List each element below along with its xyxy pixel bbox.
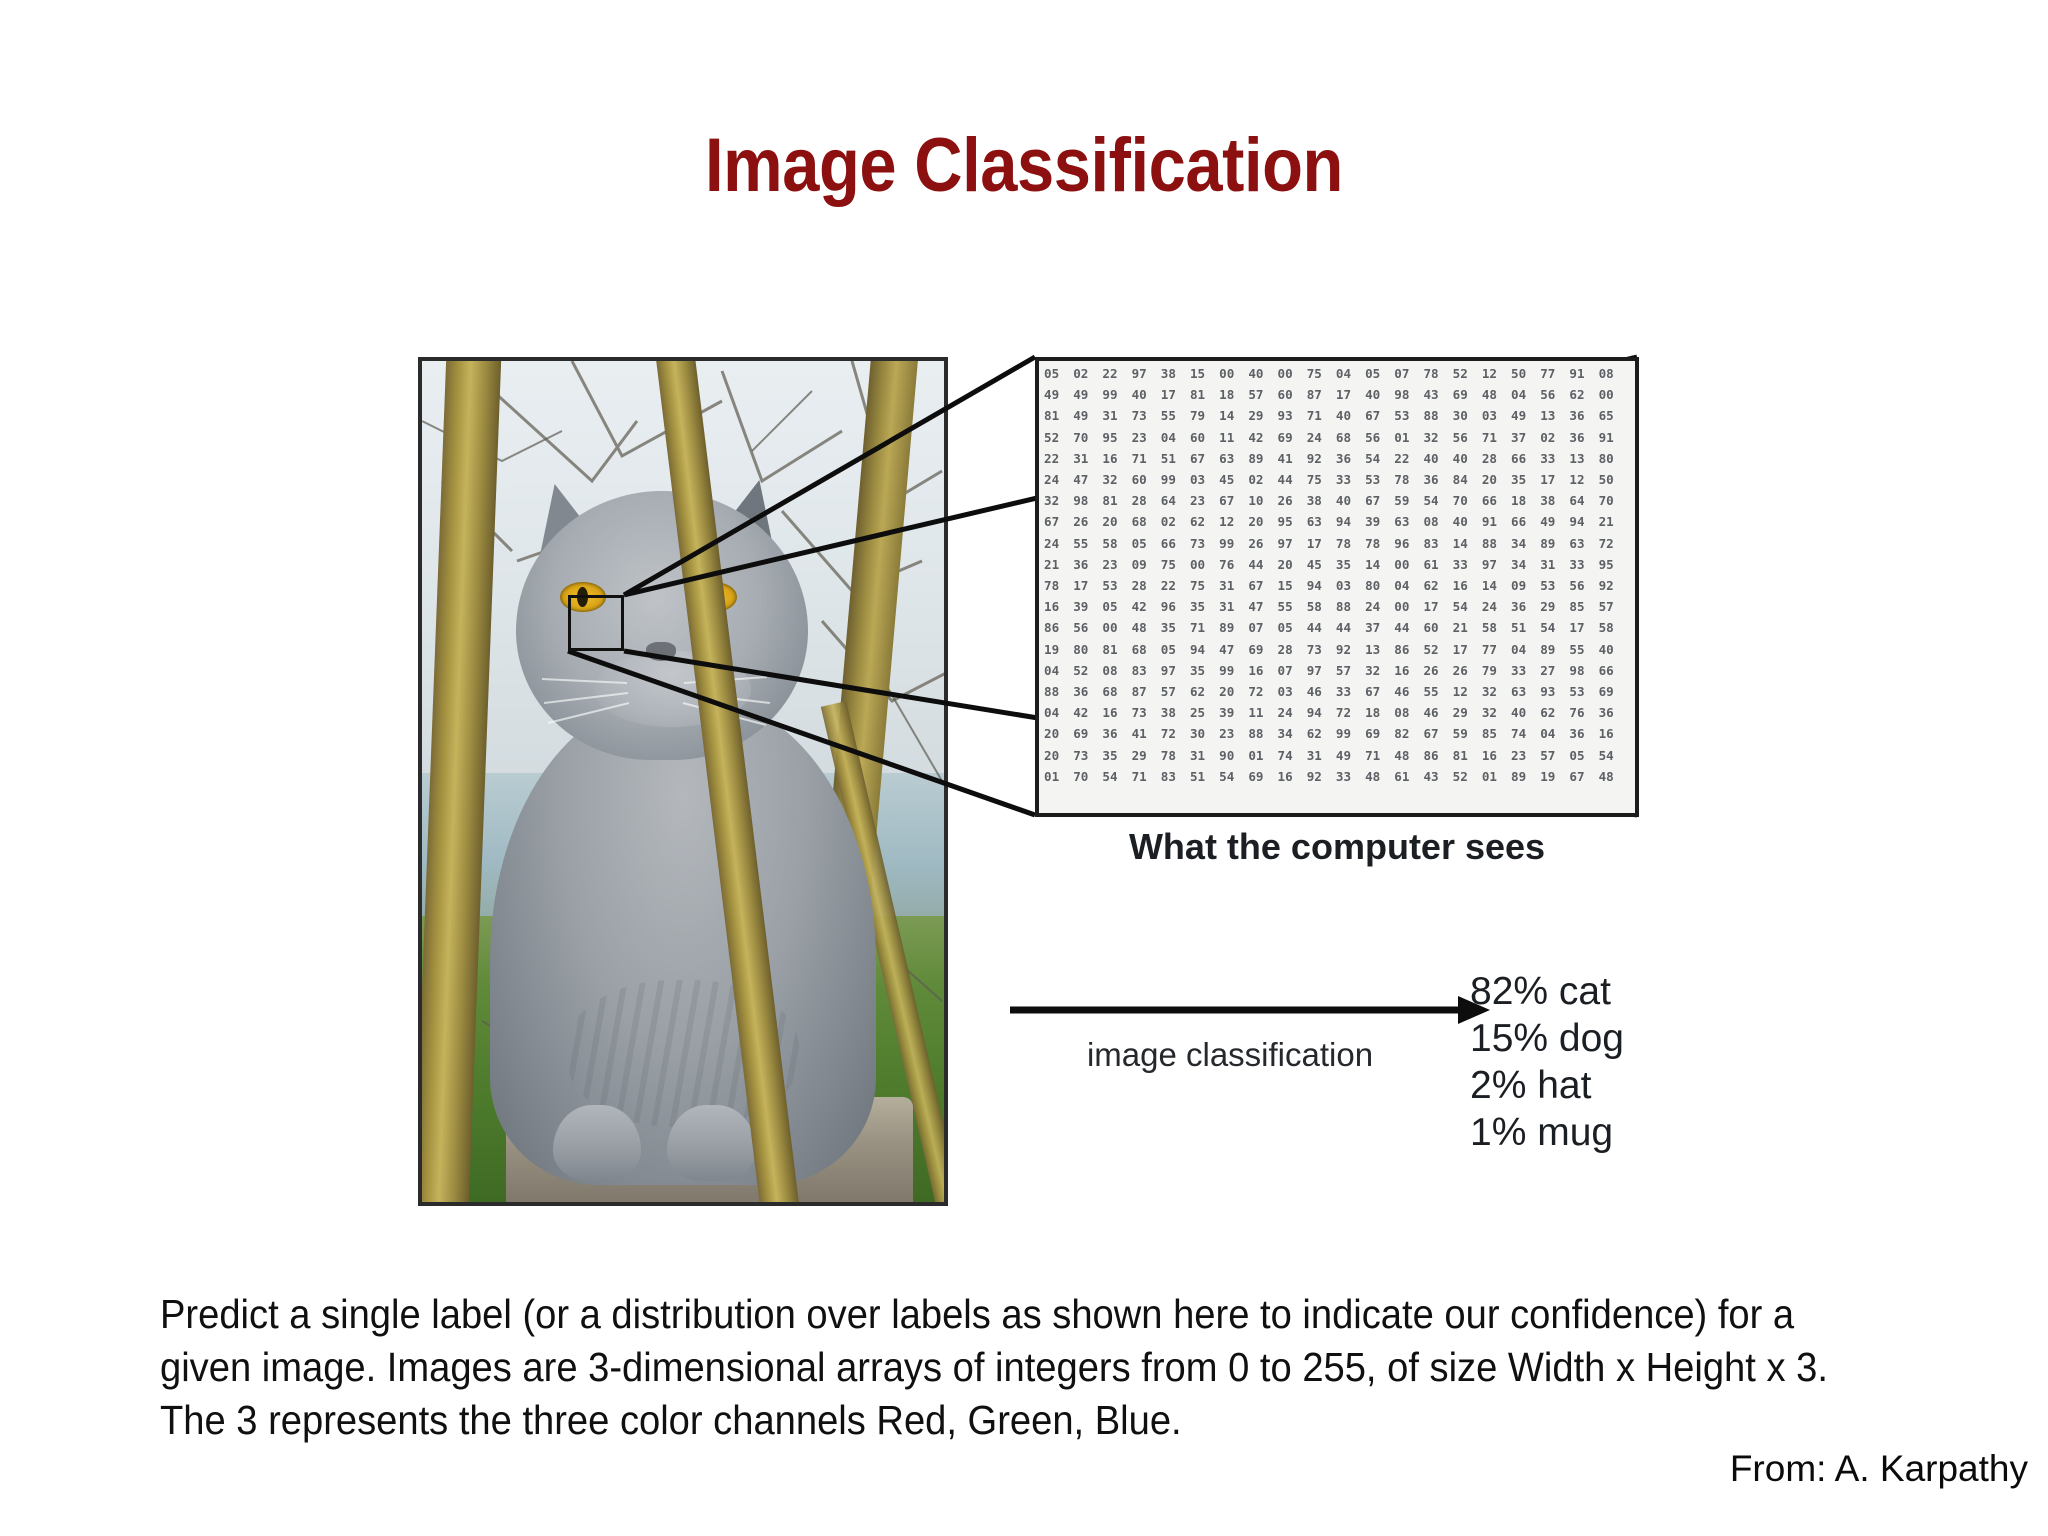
matrix-cell: 36 (1569, 427, 1598, 448)
classification-arrow-label: image classification (1030, 1036, 1430, 1074)
matrix-cell: 52 (1073, 660, 1102, 681)
matrix-cell: 89 (1540, 533, 1569, 554)
matrix-cell: 89 (1511, 766, 1540, 787)
matrix-cell: 67 (1248, 575, 1277, 596)
matrix-cell: 16 (1278, 766, 1307, 787)
matrix-cell: 37 (1365, 617, 1394, 638)
matrix-cell: 81 (1044, 405, 1073, 426)
matrix-cell: 48 (1132, 617, 1161, 638)
classification-arrow (1010, 990, 1490, 1030)
matrix-cell: 80 (1365, 575, 1394, 596)
matrix-cell: 72 (1599, 533, 1628, 554)
matrix-cell: 40 (1248, 363, 1277, 384)
matrix-cell: 14 (1365, 554, 1394, 575)
matrix-cell: 48 (1394, 745, 1423, 766)
matrix-cell: 89 (1219, 617, 1248, 638)
matrix-cell: 24 (1307, 427, 1336, 448)
matrix-cell: 97 (1307, 660, 1336, 681)
matrix-cell: 67 (1365, 681, 1394, 702)
matrix-cell: 26 (1278, 490, 1307, 511)
matrix-cell: 63 (1394, 511, 1423, 532)
matrix-cell: 22 (1394, 448, 1423, 469)
matrix-cell: 24 (1278, 702, 1307, 723)
matrix-cell: 07 (1248, 617, 1277, 638)
matrix-cell: 64 (1161, 490, 1190, 511)
matrix-cell: 95 (1278, 511, 1307, 532)
matrix-cell: 69 (1278, 427, 1307, 448)
matrix-cell: 08 (1394, 702, 1423, 723)
matrix-cell: 13 (1365, 639, 1394, 660)
matrix-cell: 71 (1132, 766, 1161, 787)
matrix-cell: 93 (1278, 405, 1307, 426)
matrix-cell: 16 (1044, 596, 1073, 617)
matrix-cell: 16 (1102, 702, 1131, 723)
matrix-cell: 69 (1365, 723, 1394, 744)
matrix-cell: 34 (1511, 554, 1540, 575)
matrix-cell: 54 (1219, 766, 1248, 787)
matrix-cell: 59 (1394, 490, 1423, 511)
matrix-cell: 66 (1482, 490, 1511, 511)
matrix-cell: 20 (1044, 723, 1073, 744)
matrix-cell: 16 (1248, 660, 1277, 681)
matrix-cell: 32 (1044, 490, 1073, 511)
matrix-cell: 46 (1307, 681, 1336, 702)
matrix-cell: 18 (1511, 490, 1540, 511)
matrix-cell: 92 (1336, 639, 1365, 660)
matrix-cell: 42 (1132, 596, 1161, 617)
matrix-cell: 36 (1423, 469, 1452, 490)
matrix-cell: 55 (1278, 596, 1307, 617)
matrix-row: 8836688757622072034633674655123263935369 (1044, 681, 1632, 702)
matrix-cell: 28 (1132, 490, 1161, 511)
matrix-cell: 21 (1453, 617, 1482, 638)
matrix-cell: 16 (1482, 745, 1511, 766)
matrix-cell: 92 (1599, 575, 1628, 596)
matrix-cell: 47 (1219, 639, 1248, 660)
matrix-cell: 42 (1073, 702, 1102, 723)
matrix-cell: 69 (1599, 681, 1628, 702)
matrix-cell: 31 (1102, 405, 1131, 426)
matrix-cell: 10 (1248, 490, 1277, 511)
matrix-cell: 78 (1161, 745, 1190, 766)
matrix-cell: 19 (1044, 639, 1073, 660)
matrix-cell: 86 (1044, 617, 1073, 638)
matrix-cell: 05 (1102, 596, 1131, 617)
matrix-cell: 12 (1569, 469, 1598, 490)
matrix-cell: 12 (1453, 681, 1482, 702)
matrix-cell: 66 (1161, 533, 1190, 554)
matrix-cell: 99 (1336, 723, 1365, 744)
matrix-cell: 98 (1073, 490, 1102, 511)
matrix-cell: 17 (1161, 384, 1190, 405)
matrix-cell: 49 (1540, 511, 1569, 532)
matrix-cell: 03 (1482, 405, 1511, 426)
matrix-cell: 20 (1278, 554, 1307, 575)
matrix-cell: 49 (1044, 384, 1073, 405)
matrix-cell: 70 (1599, 490, 1628, 511)
matrix-cell: 05 (1569, 745, 1598, 766)
matrix-cell: 21 (1044, 554, 1073, 575)
matrix-cell: 21 (1599, 511, 1628, 532)
matrix-cell: 50 (1511, 363, 1540, 384)
matrix-cell: 67 (1423, 723, 1452, 744)
matrix-cell: 96 (1161, 596, 1190, 617)
matrix-cell: 56 (1073, 617, 1102, 638)
matrix-cell: 87 (1132, 681, 1161, 702)
matrix-cell: 05 (1365, 363, 1394, 384)
matrix-cell: 79 (1190, 405, 1219, 426)
matrix-cell: 94 (1569, 511, 1598, 532)
matrix-row: 0442167338253911249472180846293240627636 (1044, 702, 1632, 723)
matrix-cell: 40 (1453, 511, 1482, 532)
matrix-cell: 68 (1336, 427, 1365, 448)
matrix-cell: 50 (1599, 469, 1628, 490)
matrix-cell: 88 (1044, 681, 1073, 702)
matrix-cell: 32 (1102, 469, 1131, 490)
result-item-mug: 1% mug (1470, 1109, 1624, 1156)
matrix-cell: 24 (1044, 533, 1073, 554)
matrix-cell: 47 (1248, 596, 1277, 617)
matrix-cell: 75 (1161, 554, 1190, 575)
matrix-cell: 17 (1336, 384, 1365, 405)
matrix-cell: 83 (1132, 660, 1161, 681)
matrix-cell: 40 (1423, 448, 1452, 469)
matrix-cell: 33 (1511, 660, 1540, 681)
matrix-cell: 99 (1102, 384, 1131, 405)
matrix-row: 4949994017811857608717409843694804566200 (1044, 384, 1632, 405)
matrix-cell: 23 (1219, 723, 1248, 744)
matrix-cell: 34 (1511, 533, 1540, 554)
matrix-cell: 69 (1248, 766, 1277, 787)
matrix-cell: 04 (1511, 639, 1540, 660)
matrix-cell: 20 (1219, 681, 1248, 702)
matrix-cell: 05 (1132, 533, 1161, 554)
matrix-cell: 04 (1336, 363, 1365, 384)
matrix-cell: 36 (1336, 448, 1365, 469)
matrix-cell: 18 (1365, 702, 1394, 723)
matrix-cell: 45 (1307, 554, 1336, 575)
matrix-cell: 36 (1599, 702, 1628, 723)
matrix-cell: 02 (1073, 363, 1102, 384)
matrix-cell: 93 (1540, 681, 1569, 702)
matrix-cell: 37 (1511, 427, 1540, 448)
matrix-cell: 54 (1102, 766, 1131, 787)
matrix-cell: 26 (1073, 511, 1102, 532)
result-item-dog: 15% dog (1470, 1015, 1624, 1062)
matrix-cell: 33 (1336, 766, 1365, 787)
matrix-cell: 51 (1161, 448, 1190, 469)
matrix-cell: 00 (1190, 554, 1219, 575)
matrix-cell: 81 (1102, 490, 1131, 511)
matrix-cell: 86 (1394, 639, 1423, 660)
matrix-cell: 86 (1423, 745, 1452, 766)
matrix-cell: 29 (1453, 702, 1482, 723)
matrix-cell: 60 (1278, 384, 1307, 405)
matrix-cell: 30 (1190, 723, 1219, 744)
matrix-row: 5270952304601142692468560132567137023691 (1044, 427, 1632, 448)
matrix-cell: 73 (1132, 405, 1161, 426)
matrix-cell: 95 (1102, 427, 1131, 448)
matrix-cell: 92 (1307, 448, 1336, 469)
cat-photo (418, 357, 948, 1206)
matrix-row: 0502229738150040007504050778521250779108 (1044, 363, 1632, 384)
matrix-cell: 56 (1365, 427, 1394, 448)
matrix-cell: 09 (1511, 575, 1540, 596)
cat-paw-left (553, 1105, 642, 1181)
matrix-cell: 70 (1073, 766, 1102, 787)
matrix-row: 2455580566739926971778789683148834896372 (1044, 533, 1632, 554)
matrix-row: 2447326099034502447533537836842035171250 (1044, 469, 1632, 490)
matrix-cell: 23 (1132, 427, 1161, 448)
matrix-cell: 91 (1482, 511, 1511, 532)
matrix-cell: 81 (1102, 639, 1131, 660)
matrix-cell: 04 (1161, 427, 1190, 448)
matrix-cell: 22 (1102, 363, 1131, 384)
source-credit: From: A. Karpathy (1428, 1448, 2028, 1490)
matrix-cell: 04 (1394, 575, 1423, 596)
matrix-cell: 71 (1132, 448, 1161, 469)
matrix-cell: 81 (1453, 745, 1482, 766)
matrix-cell: 28 (1482, 448, 1511, 469)
matrix-cell: 85 (1482, 723, 1511, 744)
matrix-cell: 54 (1599, 745, 1628, 766)
matrix-cell: 32 (1365, 660, 1394, 681)
matrix-cell: 55 (1161, 405, 1190, 426)
matrix-cell: 35 (1102, 745, 1131, 766)
matrix-cell: 35 (1190, 660, 1219, 681)
matrix-cell: 30 (1453, 405, 1482, 426)
matrix-cell: 49 (1073, 384, 1102, 405)
matrix-cell: 75 (1307, 469, 1336, 490)
matrix-cell: 04 (1540, 723, 1569, 744)
matrix-cell: 67 (1365, 405, 1394, 426)
matrix-row: 1980816805944769287392138652177704895540 (1044, 639, 1632, 660)
matrix-cell: 77 (1540, 363, 1569, 384)
matrix-cell: 59 (1453, 723, 1482, 744)
matrix-cell: 78 (1044, 575, 1073, 596)
result-item-hat: 2% hat (1470, 1062, 1624, 1109)
matrix-cell: 23 (1190, 490, 1219, 511)
matrix-cell: 66 (1599, 660, 1628, 681)
matrix-cell: 70 (1453, 490, 1482, 511)
matrix-cell: 05 (1278, 617, 1307, 638)
matrix-cell: 54 (1423, 490, 1452, 511)
matrix-cell: 61 (1423, 554, 1452, 575)
matrix-cell: 99 (1219, 533, 1248, 554)
matrix-cell: 85 (1569, 596, 1598, 617)
matrix-cell: 78 (1336, 533, 1365, 554)
matrix-cell: 02 (1248, 469, 1277, 490)
matrix-cell: 88 (1482, 533, 1511, 554)
matrix-cell: 08 (1102, 660, 1131, 681)
matrix-cell: 16 (1453, 575, 1482, 596)
matrix-cell: 87 (1307, 384, 1336, 405)
matrix-cell: 34 (1278, 723, 1307, 744)
matrix-cell: 63 (1307, 511, 1336, 532)
matrix-cell: 62 (1307, 723, 1336, 744)
matrix-cell: 53 (1102, 575, 1131, 596)
matrix-cell: 48 (1365, 766, 1394, 787)
matrix-cell: 58 (1482, 617, 1511, 638)
matrix-cell: 71 (1482, 427, 1511, 448)
matrix-cell: 39 (1219, 702, 1248, 723)
matrix-cell: 00 (1278, 363, 1307, 384)
matrix-cell: 40 (1336, 405, 1365, 426)
matrix-row: 0170547183515469169233486143520189196748 (1044, 766, 1632, 787)
matrix-cell: 18 (1219, 384, 1248, 405)
matrix-cell: 16 (1102, 448, 1131, 469)
matrix-cell: 68 (1132, 639, 1161, 660)
matrix-cell: 54 (1540, 617, 1569, 638)
result-item-cat: 82% cat (1470, 968, 1624, 1015)
matrix-cell: 20 (1248, 511, 1277, 532)
matrix-cell: 71 (1190, 617, 1219, 638)
matrix-cell: 17 (1423, 596, 1452, 617)
matrix-cell: 94 (1190, 639, 1219, 660)
matrix-row: 8656004835718907054444374460215851541758 (1044, 617, 1632, 638)
matrix-cell: 72 (1248, 681, 1277, 702)
zoom-region-box (568, 595, 624, 651)
matrix-cell: 12 (1219, 511, 1248, 532)
matrix-cell: 99 (1219, 660, 1248, 681)
matrix-cell: 35 (1190, 596, 1219, 617)
matrix-cell: 57 (1248, 384, 1277, 405)
matrix-cell: 11 (1219, 427, 1248, 448)
pixel-value-matrix: 0502229738150040007504050778521250779108… (1035, 357, 1639, 817)
matrix-cell: 03 (1336, 575, 1365, 596)
matrix-cell: 53 (1394, 405, 1423, 426)
matrix-cell: 19 (1540, 766, 1569, 787)
matrix-cell: 79 (1482, 660, 1511, 681)
matrix-row: 2069364172302388346299698267598574043616 (1044, 723, 1632, 744)
matrix-cell: 27 (1540, 660, 1569, 681)
matrix-cell: 73 (1307, 639, 1336, 660)
matrix-cell: 36 (1073, 554, 1102, 575)
cat-photo-scene (422, 361, 944, 1202)
matrix-cell: 57 (1161, 681, 1190, 702)
matrix-cell: 55 (1073, 533, 1102, 554)
matrix-cell: 73 (1073, 745, 1102, 766)
matrix-cell: 04 (1044, 660, 1073, 681)
matrix-cell: 29 (1248, 405, 1277, 426)
matrix-cell: 23 (1102, 554, 1131, 575)
matrix-cell: 35 (1511, 469, 1540, 490)
matrix-cell: 61 (1394, 766, 1423, 787)
matrix-cell: 17 (1307, 533, 1336, 554)
matrix-cell: 35 (1336, 554, 1365, 575)
matrix-cell: 98 (1394, 384, 1423, 405)
matrix-cell: 74 (1278, 745, 1307, 766)
matrix-cell: 00 (1102, 617, 1131, 638)
matrix-cell: 17 (1453, 639, 1482, 660)
matrix-cell: 41 (1132, 723, 1161, 744)
matrix-cell: 31 (1190, 745, 1219, 766)
matrix-cell: 44 (1248, 554, 1277, 575)
matrix-cell: 62 (1190, 681, 1219, 702)
matrix-cell: 24 (1482, 596, 1511, 617)
matrix-cell: 78 (1394, 469, 1423, 490)
matrix-cell: 44 (1278, 469, 1307, 490)
matrix-cell: 89 (1540, 639, 1569, 660)
matrix-cell: 33 (1569, 554, 1598, 575)
matrix-cell: 55 (1423, 681, 1452, 702)
matrix-cell: 04 (1044, 702, 1073, 723)
matrix-cell: 41 (1278, 448, 1307, 469)
matrix-cell: 66 (1511, 511, 1540, 532)
matrix-cell: 72 (1336, 702, 1365, 723)
matrix-cell: 78 (1365, 533, 1394, 554)
slide-canvas: Image Classification (0, 0, 2048, 1536)
matrix-cell: 38 (1161, 363, 1190, 384)
matrix-cell: 36 (1511, 596, 1540, 617)
matrix-cell: 31 (1219, 596, 1248, 617)
matrix-cell: 72 (1161, 723, 1190, 744)
matrix-cell: 32 (1482, 702, 1511, 723)
matrix-cell: 71 (1307, 405, 1336, 426)
classification-results: 82% cat 15% dog 2% hat 1% mug (1470, 968, 1624, 1156)
matrix-cell: 52 (1044, 427, 1073, 448)
matrix-cell: 54 (1365, 448, 1394, 469)
matrix-cell: 33 (1336, 469, 1365, 490)
matrix-cell: 48 (1482, 384, 1511, 405)
matrix-cell: 12 (1482, 363, 1511, 384)
matrix-cell: 36 (1102, 723, 1131, 744)
matrix-cell: 78 (1423, 363, 1452, 384)
matrix-cell: 03 (1190, 469, 1219, 490)
matrix-cell: 08 (1599, 363, 1628, 384)
matrix-cell: 43 (1423, 384, 1452, 405)
arrow-right-icon (1010, 990, 1490, 1030)
matrix-cell: 17 (1073, 575, 1102, 596)
matrix-cell: 88 (1336, 596, 1365, 617)
matrix-cell: 67 (1365, 490, 1394, 511)
matrix-cell: 71 (1365, 745, 1394, 766)
matrix-cell: 38 (1161, 702, 1190, 723)
matrix-row: 7817532822753167159403800462161409535692 (1044, 575, 1632, 596)
matrix-cell: 31 (1073, 448, 1102, 469)
matrix-row: 6726206802621220956394396308409166499421 (1044, 511, 1632, 532)
matrix-cell: 04 (1511, 384, 1540, 405)
matrix-cell: 00 (1394, 554, 1423, 575)
matrix-row: 3298812864236710263840675954706618386470 (1044, 490, 1632, 511)
matrix-cell: 11 (1248, 702, 1277, 723)
matrix-cell: 33 (1540, 448, 1569, 469)
matrix-rows-container: 0502229738150040007504050778521250779108… (1044, 363, 1632, 787)
page-title: Image Classification (123, 128, 1925, 204)
matrix-cell: 91 (1569, 363, 1598, 384)
matrix-cell: 69 (1453, 384, 1482, 405)
matrix-cell: 57 (1336, 660, 1365, 681)
matrix-cell: 13 (1540, 405, 1569, 426)
matrix-cell: 83 (1161, 766, 1190, 787)
matrix-cell: 16 (1394, 660, 1423, 681)
matrix-cell: 01 (1482, 766, 1511, 787)
matrix-cell: 75 (1190, 575, 1219, 596)
matrix-cell: 43 (1423, 766, 1452, 787)
matrix-cell: 20 (1044, 745, 1073, 766)
matrix-cell: 20 (1482, 469, 1511, 490)
matrix-cell: 90 (1219, 745, 1248, 766)
matrix-cell: 58 (1102, 533, 1131, 554)
matrix-cell: 80 (1073, 639, 1102, 660)
matrix-cell: 97 (1132, 363, 1161, 384)
matrix-cell: 47 (1073, 469, 1102, 490)
matrix-cell: 22 (1161, 575, 1190, 596)
matrix-cell: 58 (1599, 617, 1628, 638)
matrix-cell: 20 (1102, 511, 1131, 532)
matrix-cell: 39 (1073, 596, 1102, 617)
matrix-cell: 77 (1482, 639, 1511, 660)
